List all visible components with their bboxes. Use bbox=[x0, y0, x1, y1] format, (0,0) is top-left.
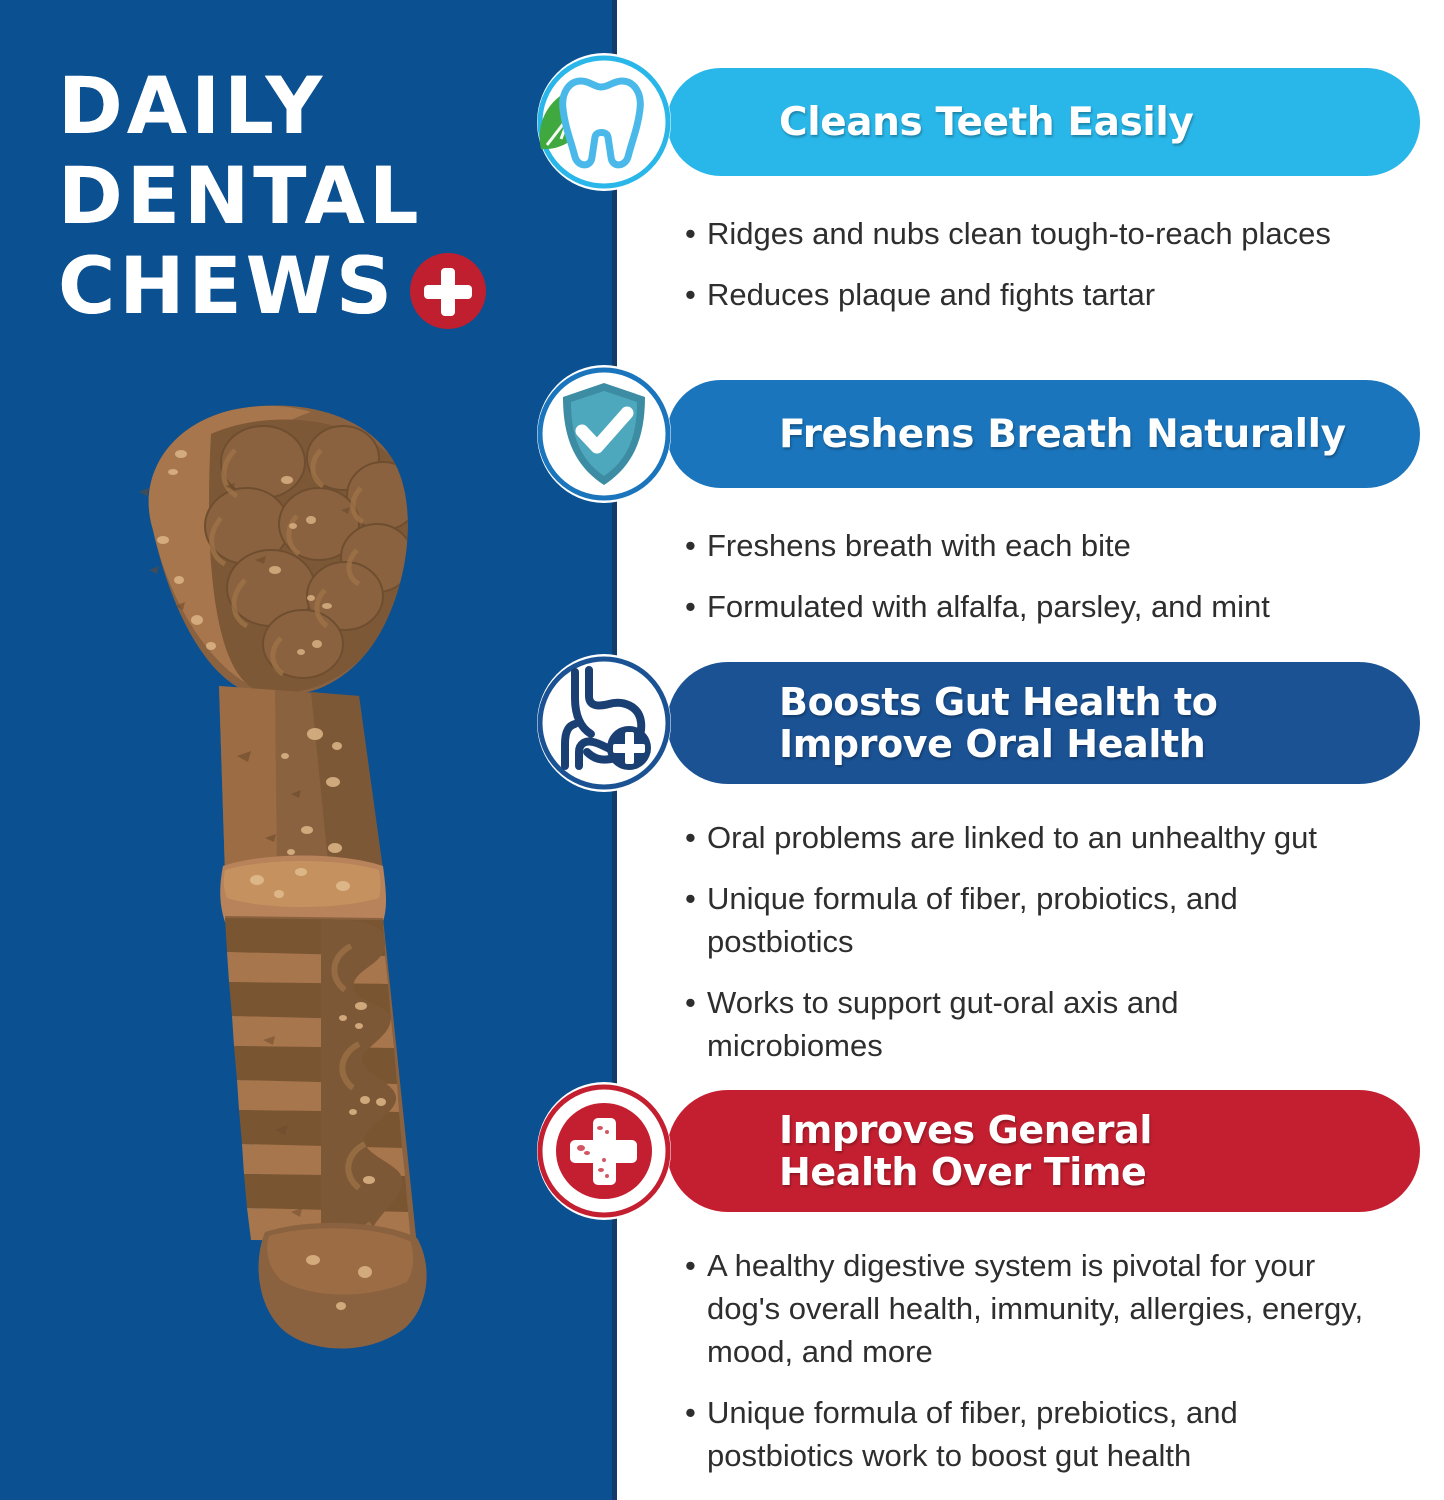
bullet-dot: • bbox=[685, 1391, 707, 1477]
bullet-item: • Reduces plaque and fights tartar bbox=[685, 273, 1444, 316]
bullet-item: • Oral problems are linked to an unhealt… bbox=[685, 816, 1444, 859]
bullet-dot: • bbox=[685, 1244, 707, 1373]
bullet-dot: • bbox=[685, 273, 707, 316]
stomach-plus-icon bbox=[537, 654, 671, 792]
bullet-dot: • bbox=[685, 212, 707, 255]
bullet-item: • Ridges and nubs clean tough-to-reach p… bbox=[685, 212, 1444, 255]
banner-title-freshens-breath: Freshens Breath Naturally bbox=[667, 413, 1376, 456]
bullet-dot: • bbox=[685, 816, 707, 859]
banner-title-line-1: Boosts Gut Health to bbox=[779, 681, 1217, 723]
banner-gut-health: Boosts Gut Health to Improve Oral Health bbox=[667, 662, 1420, 784]
bullet-item: • Unique formula of fiber, probiotics, a… bbox=[685, 877, 1385, 963]
chew-shaft bbox=[219, 686, 383, 874]
bullet-dot: • bbox=[685, 585, 707, 628]
page-title: DAILY DENTAL CHEWS bbox=[58, 62, 478, 332]
bullet-item: • Works to support gut-oral axis and mic… bbox=[685, 981, 1345, 1067]
bullets-gut-health: • Oral problems are linked to an unhealt… bbox=[685, 816, 1444, 1085]
bullets-general-health: • A healthy digestive system is pivotal … bbox=[685, 1244, 1444, 1495]
medical-cross-icon bbox=[410, 253, 486, 329]
banner-title-general-health: Improves General Health Over Time bbox=[667, 1109, 1182, 1193]
tooth-with-mint-leaf-icon bbox=[537, 53, 671, 191]
banner-title-cleans-teeth: Cleans Teeth Easily bbox=[667, 101, 1223, 144]
title-line-1: DAILY bbox=[58, 62, 478, 152]
dental-chew-product-image bbox=[115, 400, 535, 1380]
medical-cross-circle-icon bbox=[537, 1082, 671, 1220]
bullet-item: • Formulated with alfalfa, parsley, and … bbox=[685, 585, 1444, 628]
title-line-3: CHEWS bbox=[58, 242, 396, 332]
banner-title-line-1: Improves General bbox=[779, 1109, 1152, 1151]
banner-title-line-2: Health Over Time bbox=[779, 1151, 1152, 1193]
bullet-item: • Unique formula of fiber, prebiotics, a… bbox=[685, 1391, 1385, 1477]
banner-title-gut-health: Boosts Gut Health to Improve Oral Health bbox=[667, 681, 1247, 765]
chew-bottom-cap bbox=[259, 1223, 427, 1349]
bullet-item: • A healthy digestive system is pivotal … bbox=[685, 1244, 1385, 1373]
title-line-3-row: CHEWS bbox=[58, 242, 478, 332]
bullets-freshens-breath: • Freshens breath with each bite • Formu… bbox=[685, 524, 1444, 646]
bullet-dot: • bbox=[685, 981, 707, 1067]
banner-cleans-teeth: Cleans Teeth Easily bbox=[667, 68, 1420, 176]
title-line-2: DENTAL bbox=[58, 152, 478, 242]
bullet-dot: • bbox=[685, 524, 707, 567]
benefits-column: Cleans Teeth Easily bbox=[617, 0, 1444, 1500]
banner-title-line-2: Improve Oral Health bbox=[779, 723, 1217, 765]
bullets-cleans-teeth: • Ridges and nubs clean tough-to-reach p… bbox=[685, 212, 1444, 334]
bullet-dot: • bbox=[685, 877, 707, 963]
bullet-item: • Freshens breath with each bite bbox=[685, 524, 1444, 567]
banner-general-health: Improves General Health Over Time bbox=[667, 1090, 1420, 1212]
banner-freshens-breath: Freshens Breath Naturally bbox=[667, 380, 1420, 488]
shield-checkmark-icon bbox=[537, 365, 671, 503]
infographic-page: DAILY DENTAL CHEWS bbox=[0, 0, 1444, 1500]
chew-head bbox=[139, 405, 419, 696]
chew-ridged-body bbox=[225, 916, 417, 1270]
